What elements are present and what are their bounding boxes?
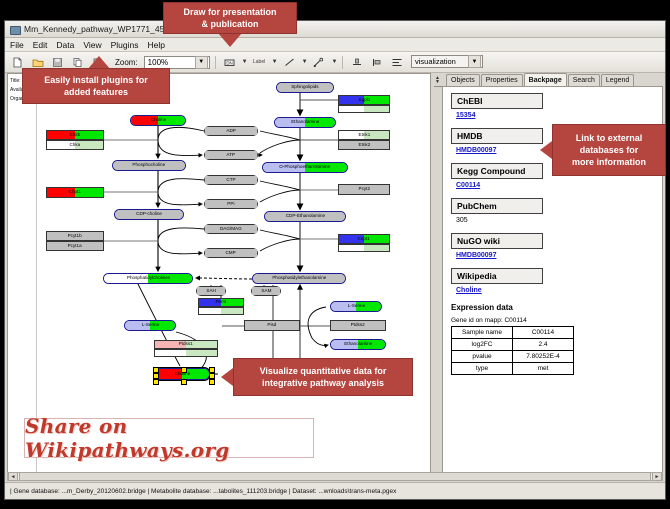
- visualization-value: visualization: [415, 57, 456, 66]
- chevron-down-icon[interactable]: ▼: [195, 56, 208, 69]
- zoom-label: Zoom:: [115, 58, 138, 67]
- distribute-vertical-icon[interactable]: [388, 54, 405, 71]
- metabolite-label: Choline: [150, 118, 166, 123]
- scroll-left-arrow[interactable]: ◄: [8, 472, 18, 481]
- tab-properties[interactable]: Properties: [481, 74, 523, 86]
- cofactor-label: CTP: [226, 178, 235, 183]
- selection-handle[interactable]: [181, 367, 187, 373]
- tab-search-label: Search: [573, 77, 595, 84]
- menu-item-data[interactable]: Data: [56, 40, 74, 50]
- node-fill-left: [155, 350, 186, 356]
- align-top-icon[interactable]: [348, 54, 365, 71]
- metabolite-phosphatidylcholines[interactable]: Phosphatidylcholines: [103, 273, 193, 284]
- tab-backpage-label: Backpage: [529, 77, 562, 84]
- cofactor-ctp[interactable]: CTP: [204, 175, 258, 185]
- tab-objects[interactable]: Objects: [446, 74, 480, 86]
- chevron-down-icon-viz[interactable]: ▼: [468, 55, 481, 68]
- tab-properties-label: Properties: [486, 77, 518, 84]
- scroll-thumb[interactable]: [19, 472, 651, 481]
- svg-text:DN: DN: [226, 60, 232, 65]
- menu-bar: File Edit Data View Plugins Help: [5, 38, 665, 52]
- cofactor-ppi[interactable]: PPi: [204, 199, 258, 209]
- visualization-combo[interactable]: visualization ▼: [411, 55, 483, 68]
- interaction-dropdown-icon[interactable]: ▼: [332, 59, 338, 65]
- node-fill-right: [186, 350, 217, 356]
- node-fill-left: [199, 308, 221, 314]
- metabolite-l-serine-right[interactable]: L-Serine: [330, 301, 382, 312]
- metabolite-ethanolamine-top[interactable]: Ethanolamine: [274, 117, 336, 128]
- gene-label: Pcyt1b: [68, 234, 82, 239]
- expression-row: Sample nameC00114: [452, 327, 574, 339]
- menu-item-plugins[interactable]: Plugins: [111, 40, 139, 50]
- cofactor-label: ADP: [226, 129, 235, 134]
- expression-value: met: [513, 363, 574, 375]
- gene-pemtb[interactable]: [198, 307, 244, 315]
- data-node-icon[interactable]: DN: [221, 54, 238, 71]
- gene-sgpl1[interactable]: Sgpl1: [338, 95, 390, 105]
- toolbar-separator-2: [342, 56, 343, 69]
- gene-etnk2[interactable]: Etnk2: [338, 140, 390, 150]
- callout-visualize: Visualize quantitative data for integrat…: [233, 358, 413, 396]
- cofactor-label: SAH: [206, 289, 215, 294]
- gene-label: Pcyt1a: [68, 244, 82, 249]
- hmdb-heading-text: HMDB: [457, 131, 483, 141]
- cofactor-label: PPi: [227, 202, 234, 207]
- gene-label: Chka: [70, 143, 81, 148]
- gene-label: Chkb: [70, 133, 81, 138]
- gene-pcyt1a[interactable]: Pcyt1a: [46, 241, 104, 251]
- menu-item-view[interactable]: View: [83, 40, 101, 50]
- toolbar-separator: [215, 56, 216, 69]
- expression-data-title: Expression data: [451, 303, 662, 312]
- chebi-link[interactable]: 15354: [456, 112, 662, 119]
- tab-legend[interactable]: Legend: [601, 74, 634, 86]
- label-text: Label: [253, 59, 265, 65]
- backpage-heading-hmdb: HMDB: [451, 128, 543, 144]
- expression-value: 2.4: [513, 339, 574, 351]
- gene-label: Sgpl1: [358, 98, 370, 103]
- wikipedia-link[interactable]: Choline: [456, 287, 662, 294]
- gene-label: Pisd: [268, 323, 277, 328]
- cofactor-cmp[interactable]: CMP: [204, 248, 258, 258]
- metabolite-label: Ethanolamine: [291, 120, 319, 125]
- tab-scroll-arrows[interactable]: ▲▼: [435, 74, 444, 85]
- zoom-value: 100%: [148, 58, 168, 67]
- metabolite-l-serine-left[interactable]: L-Serine: [124, 320, 176, 331]
- line-dropdown-icon[interactable]: ▼: [302, 59, 308, 65]
- gene-cept1[interactable]: Cept1: [338, 234, 390, 244]
- selection-handle[interactable]: [153, 379, 159, 385]
- wikipedia-heading-text: Wikipedia: [457, 271, 497, 281]
- gene-pisd[interactable]: Pisd: [244, 320, 300, 331]
- pubchem-value: 305: [456, 217, 662, 224]
- metabolite-cdp-choline[interactable]: CDP-choline: [114, 209, 184, 220]
- status-bar: | Gene database: ...m_Derby_20120602.bri…: [5, 482, 665, 499]
- metabolite-label: Phosphatidylcholines: [126, 276, 169, 281]
- expression-row: pvalue7.80252E-4: [452, 351, 574, 363]
- menu-item-file[interactable]: File: [10, 40, 24, 50]
- expression-row: typemet: [452, 363, 574, 375]
- gene-label: Pemt: [216, 300, 227, 305]
- cofactor-sah[interactable]: SAH: [196, 286, 226, 296]
- node-fill-left: [339, 245, 364, 251]
- cofactor-adp[interactable]: ADP: [204, 126, 258, 136]
- gene-label: Pcyt2: [358, 187, 370, 192]
- scroll-right-arrow[interactable]: ►: [652, 472, 662, 481]
- metabolite-label: O-Phosphoethanolamine: [280, 165, 331, 170]
- kegg-heading-text: Kegg Compound: [457, 166, 525, 176]
- cofactor-label: DAG/MAG: [220, 227, 242, 232]
- gene-ptdss2[interactable]: Ptdss2: [330, 320, 386, 331]
- gene-ptdss1b[interactable]: [154, 349, 218, 357]
- metabolite-cdp-ethanolamine[interactable]: CDP-Ethanolamine: [264, 211, 346, 222]
- cofactor-label: ATP: [227, 153, 236, 158]
- gene-label: Etnk2: [358, 143, 370, 148]
- metabolite-label: L-Serine: [347, 304, 364, 309]
- metabolite-choline-top[interactable]: Choline: [130, 115, 186, 126]
- callout-draw-text: Draw for presentation & publication: [183, 6, 276, 30]
- gene-label: Chpt1: [69, 190, 81, 195]
- callout-plugins-text: Easily install plugins for added feature…: [44, 74, 148, 98]
- expression-key: Sample name: [452, 327, 513, 339]
- gene-chka[interactable]: Chka: [46, 140, 104, 150]
- gene-label: Ptdss2: [351, 323, 365, 328]
- callout-visualize-arrow: [221, 368, 233, 386]
- callout-share-text: Share on Wikipathways.org: [25, 414, 313, 462]
- align-left-icon[interactable]: [368, 54, 385, 71]
- expression-value: 7.80252E-4: [513, 351, 574, 363]
- callout-visualize-text: Visualize quantitative data for integrat…: [260, 365, 387, 389]
- tab-backpage[interactable]: Backpage: [524, 73, 567, 86]
- screenshot-root: Mm_Kennedy_pathway_WP1771_45176.gpml Fil…: [0, 0, 670, 509]
- node-fill-right: [364, 106, 389, 112]
- line-icon[interactable]: [281, 54, 298, 71]
- nugo-heading-text: NuGO wiki: [457, 236, 500, 246]
- node-fill-left: [339, 106, 364, 112]
- backpage-heading-pubchem: PubChem: [451, 198, 543, 214]
- label-dropdown-icon[interactable]: ▼: [272, 59, 278, 65]
- gene-pemt[interactable]: Pemt: [198, 298, 244, 307]
- gene-etnk1[interactable]: Etnk1: [338, 130, 390, 140]
- selection-handle[interactable]: [181, 379, 187, 385]
- callout-link-arrow: [540, 141, 552, 159]
- expression-key: log2FC: [452, 339, 513, 351]
- metabolite-o-phosphoethanolamine[interactable]: O-Phosphoethanolamine: [262, 162, 348, 173]
- gene-cept1b[interactable]: [338, 244, 390, 252]
- cofactor-sam[interactable]: SAM: [251, 286, 281, 296]
- backpage-heading-kegg: Kegg Compound: [451, 163, 543, 179]
- canvas-horizontal-scrollbar[interactable]: ◄ ►: [7, 472, 663, 481]
- menu-item-help[interactable]: Help: [148, 40, 165, 50]
- chebi-heading-text: ChEBI: [457, 96, 483, 106]
- tab-search[interactable]: Search: [568, 74, 600, 86]
- metabolite-label: CDP-choline: [136, 212, 162, 217]
- metabolite-label: CDP-Ethanolamine: [285, 214, 324, 219]
- callout-plugins: Easily install plugins for added feature…: [22, 68, 170, 104]
- menu-item-edit[interactable]: Edit: [33, 40, 48, 50]
- callout-draw: Draw for presentation & publication: [163, 2, 297, 34]
- metabolite-phosphocholine[interactable]: Phosphocholine: [112, 160, 186, 171]
- metabolite-label: Phosphocholine: [133, 163, 166, 168]
- callout-share: Share on Wikipathways.org: [24, 418, 314, 458]
- metabolite-choline-bottom[interactable]: Choline: [154, 368, 210, 380]
- kegg-link[interactable]: C00114: [456, 182, 662, 189]
- callout-draw-arrow: [218, 33, 242, 47]
- gene-sgpl1b[interactable]: [338, 105, 390, 113]
- cofactor-label: SAM: [261, 289, 271, 294]
- metabolite-label: Sphingolipids: [291, 85, 318, 90]
- gene-chkb[interactable]: Chkb: [46, 130, 104, 140]
- metabolite-phosphatidylethanolamine[interactable]: Phosphatidylethanolamine: [252, 273, 346, 284]
- cofactor-label: CMP: [226, 251, 236, 256]
- callout-link-text: Link to external databases for more info…: [572, 132, 646, 168]
- tab-legend-label: Legend: [606, 77, 629, 84]
- pubchem-heading-text: PubChem: [457, 201, 497, 211]
- expression-key: type: [452, 363, 513, 375]
- metabolite-label: Phosphatidylethanolamine: [272, 276, 326, 281]
- title-bar: Mm_Kennedy_pathway_WP1771_45176.gpml: [5, 21, 665, 38]
- expression-key: pvalue: [452, 351, 513, 363]
- pathvisio-icon: [9, 24, 20, 35]
- tab-objects-label: Objects: [451, 77, 475, 84]
- expression-table: Sample nameC00114log2FC2.4pvalue7.80252E…: [451, 326, 574, 375]
- metabolite-sphingolipids[interactable]: Sphingolipids: [276, 82, 334, 93]
- gene-pcyt2[interactable]: Pcyt2: [338, 184, 390, 195]
- cofactor-atp[interactable]: ATP: [204, 150, 258, 160]
- label-button[interactable]: Label: [251, 54, 268, 71]
- interaction-icon[interactable]: [311, 54, 328, 71]
- cofactor-dagmag[interactable]: DAG/MAG: [204, 224, 258, 234]
- gene-pcyt1b[interactable]: Pcyt1b: [46, 231, 104, 241]
- data-node-dropdown-icon[interactable]: ▼: [242, 59, 248, 65]
- metabolite-ethanolamine-bottom[interactable]: Ethanolamine: [330, 339, 386, 350]
- gene-label: Ptdss1: [179, 342, 193, 347]
- zoom-combo[interactable]: 100% ▼: [144, 56, 210, 69]
- backpage-heading-nugo: NuGO wiki: [451, 233, 543, 249]
- gene-ptdss1[interactable]: Ptdss1: [154, 340, 218, 349]
- metabolite-label: L-Serine: [141, 323, 158, 328]
- status-text: | Gene database: ...m_Derby_20120602.bri…: [10, 488, 396, 495]
- metabolite-label: Ethanolamine: [344, 342, 372, 347]
- gene-label: Cept1: [358, 237, 370, 242]
- expression-row: log2FC2.4: [452, 339, 574, 351]
- gene-chpt1[interactable]: Chpt1: [46, 187, 104, 198]
- node-fill-right: [221, 308, 243, 314]
- side-panel-tabs: ▲▼ Objects Properties Backpage Search Le…: [434, 73, 663, 87]
- expression-value: C00114: [513, 327, 574, 339]
- nugo-link[interactable]: HMDB00097: [456, 252, 662, 259]
- callout-link: Link to external databases for more info…: [552, 124, 666, 176]
- gene-id-line: Gene id on mapp: C00114: [451, 317, 662, 324]
- selection-handle[interactable]: [209, 379, 215, 385]
- backpage-heading-wikipedia: Wikipedia: [451, 268, 543, 284]
- backpage-heading-chebi: ChEBI: [451, 93, 543, 109]
- node-fill-right: [364, 245, 389, 251]
- gene-label: Etnk1: [358, 133, 370, 138]
